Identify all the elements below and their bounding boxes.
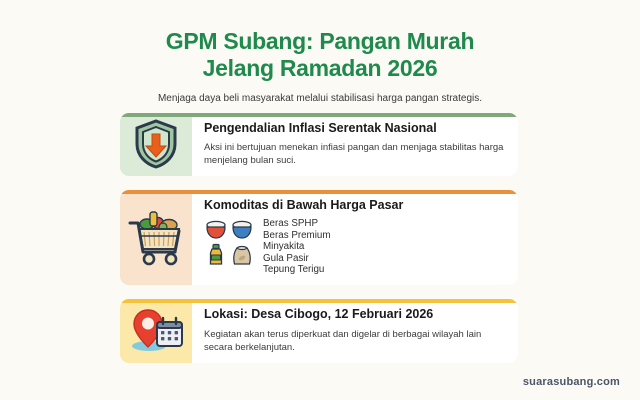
commodity-list: Beras SPHP Beras Premium Minyakita Gula … [263,217,331,276]
page-subtitle: Menjaga daya beli masyarakat melalui sta… [0,92,640,105]
card-accent-bar [120,190,518,194]
card-content-pane: Pengendalian Inflasi Serentak Nasional A… [192,113,518,176]
card-commodities: Komoditas di Bawah Harga Pasar [120,190,518,285]
shield-down-arrow-icon [133,119,179,174]
list-item: Tepung Terigu [263,264,331,276]
card-icon-pane [120,299,192,363]
header: GPM Subang: Pangan Murah Jelang Ramadan … [0,0,640,105]
card-icon-pane [120,113,192,176]
page-title-line-2: Jelang Ramadan 2026 [0,55,640,82]
card-body-text: Aksi ini bertujuan menekan infiasi panga… [204,141,508,167]
site-watermark: suarasubang.com [523,376,620,388]
card-location: Lokasi: Desa Cibogo, 12 Februari 2026 Ke… [120,299,518,363]
sugar-sack-icon [230,243,254,267]
card-list: Pengendalian Inflasi Serentak Nasional A… [120,113,518,377]
shopping-cart-icon [125,207,187,272]
card-heading: Lokasi: Desa Cibogo, 12 Februari 2026 [204,306,508,322]
commodity-row: Beras SPHP Beras Premium Minyakita Gula … [204,217,508,276]
card-content-pane: Komoditas di Bawah Harga Pasar [192,190,518,285]
card-accent-bar [120,299,518,303]
card-body-text: Kegiatan akan terus diperkuat dan digela… [204,328,508,354]
card-content-pane: Lokasi: Desa Cibogo, 12 Februari 2026 Ke… [192,299,518,363]
list-item: Beras Premium [263,230,331,242]
card-inflation-control: Pengendalian Inflasi Serentak Nasional A… [120,113,518,176]
list-item: Beras SPHP [263,218,331,230]
cooking-oil-bottle-icon [204,243,228,267]
commodity-icon-grid [204,217,254,267]
list-item: Gula Pasir [263,253,331,265]
card-heading: Pengendalian Inflasi Serentak Nasional [204,120,508,136]
card-heading: Komoditas di Bawah Harga Pasar [204,197,508,213]
location-pin-calendar-icon [127,305,185,360]
rice-bowl-red-icon [204,217,228,241]
list-item: Minyakita [263,241,331,253]
rice-bowl-blue-icon [230,217,254,241]
card-accent-bar [120,113,518,117]
card-icon-pane [120,190,192,285]
infographic-page: GPM Subang: Pangan Murah Jelang Ramadan … [0,0,640,400]
page-title-line-1: GPM Subang: Pangan Murah [0,28,640,55]
